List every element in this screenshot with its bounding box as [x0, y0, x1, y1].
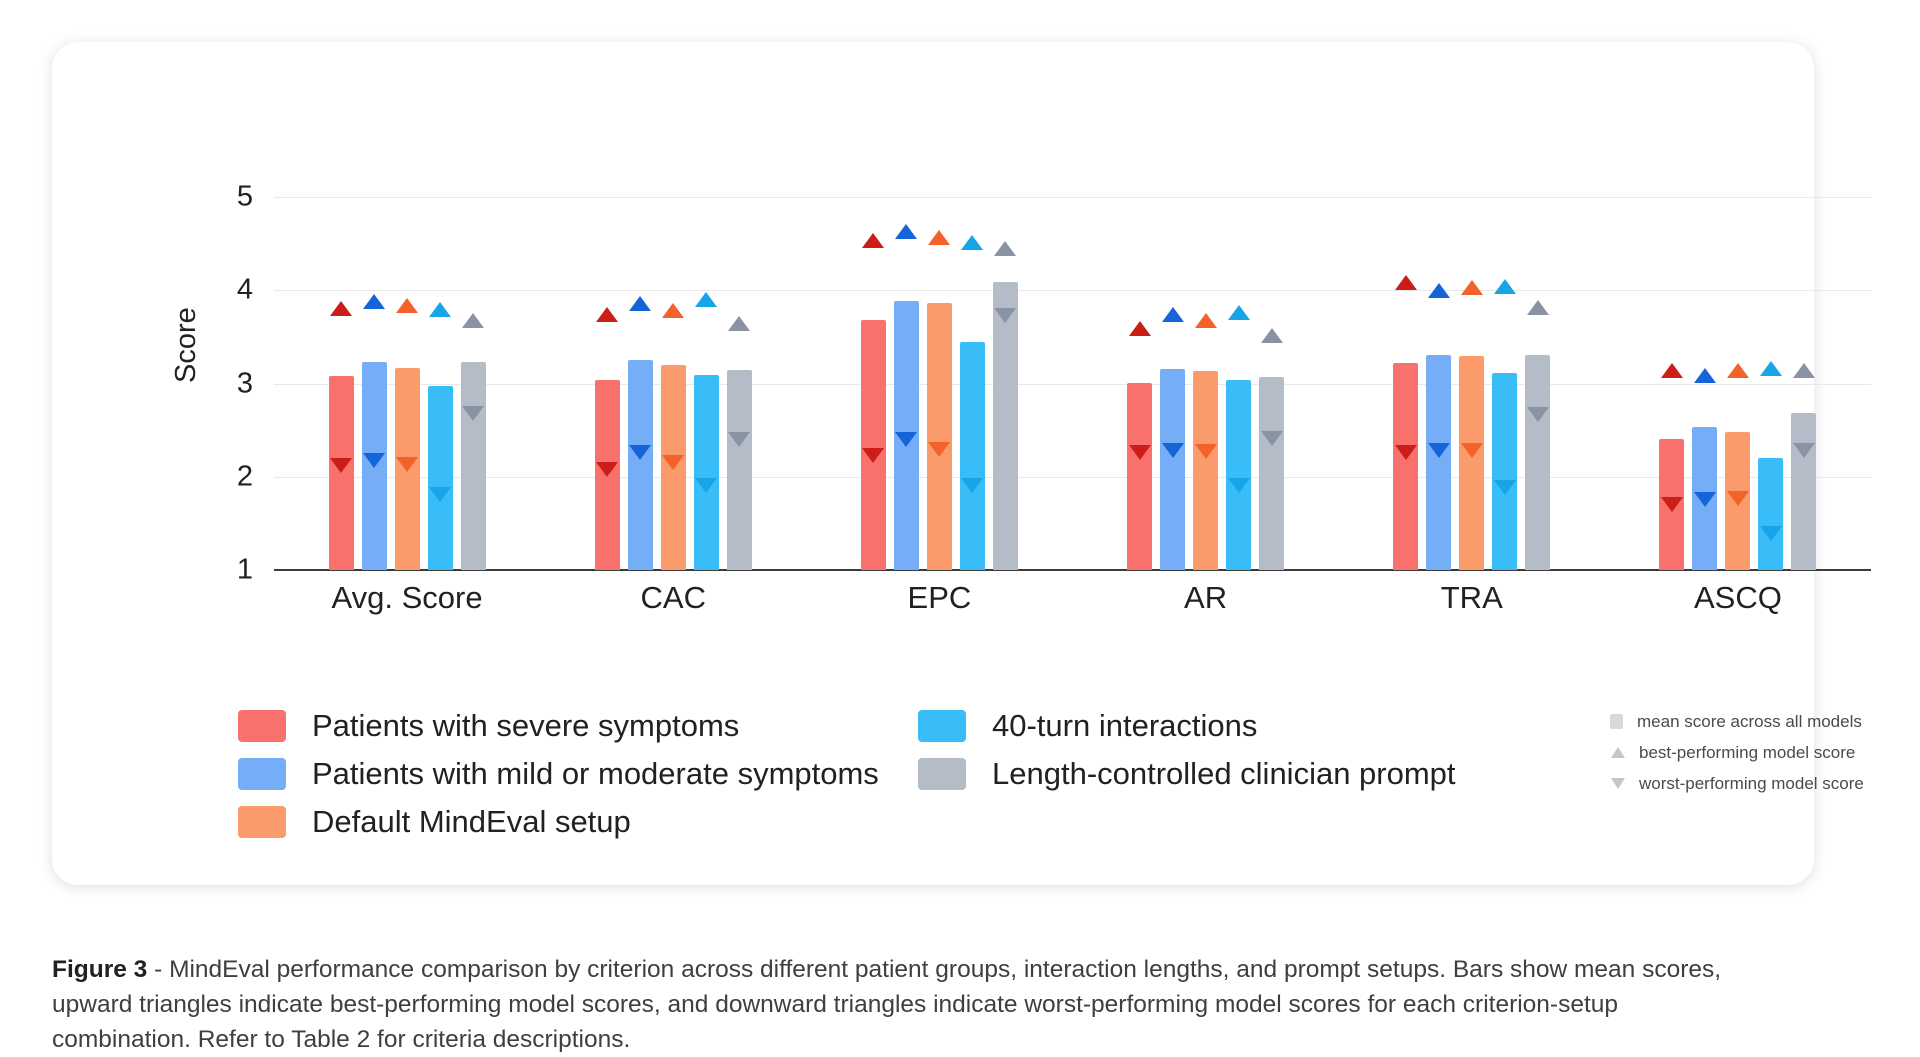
bar[interactable] [1426, 355, 1451, 570]
y-axis-tick: 3 [237, 367, 253, 400]
legend-swatch-severe [238, 710, 286, 742]
caption-text: MindEval performance comparison by crite… [52, 956, 1721, 1053]
legend-item[interactable]: 40-turn interactions [918, 702, 1456, 750]
y-axis-label: Score [170, 307, 203, 383]
triangle-down-icon [662, 455, 684, 470]
marker-legend-label: worst-performing model score [1639, 774, 1864, 794]
triangle-down-icon [928, 442, 950, 457]
caption-dash: - [147, 956, 169, 983]
triangle-down-icon [1261, 431, 1283, 446]
triangle-up-icon [1461, 280, 1483, 295]
triangle-up-icon [928, 230, 950, 245]
legend-label: 40-turn interactions [992, 708, 1257, 744]
triangle-up-icon [1727, 363, 1749, 378]
bar[interactable] [694, 375, 719, 570]
triangle-up-icon [994, 241, 1016, 256]
figure-caption: Figure 3 - MindEval performance comparis… [52, 952, 1732, 1057]
legend-column-left: Patients with severe symptoms Patients w… [238, 702, 879, 846]
x-axis-tick: ASCQ [1694, 580, 1782, 616]
triangle-down-icon [1527, 407, 1549, 422]
triangle-up-icon [1661, 363, 1683, 378]
triangle-up-icon [1228, 305, 1250, 320]
triangle-up-icon [396, 298, 418, 313]
x-axis-tick: AR [1184, 580, 1227, 616]
triangle-up-icon [429, 302, 451, 317]
x-axis-tick: Avg. Score [332, 580, 483, 616]
bar[interactable] [1492, 373, 1517, 570]
legend-item[interactable]: Length-controlled clinician prompt [918, 750, 1456, 798]
triangle-up-icon [1760, 361, 1782, 376]
bar[interactable] [1160, 369, 1185, 570]
triangle-up-icon [1793, 363, 1815, 378]
triangle-up-icon [695, 292, 717, 307]
marker-legend-label: mean score across all models [1637, 712, 1862, 732]
triangle-down-icon [1793, 443, 1815, 458]
y-axis-tick: 4 [237, 274, 253, 307]
triangle-down-icon [1162, 443, 1184, 458]
triangle-up-icon [728, 316, 750, 331]
bar[interactable] [1127, 383, 1152, 570]
marker-legend: mean score across all models best-perfor… [1610, 706, 1864, 799]
triangle-down-icon [1129, 445, 1151, 460]
bar[interactable] [329, 376, 354, 570]
triangle-up-icon [596, 307, 618, 322]
triangle-down-icon [728, 432, 750, 447]
square-icon [1610, 714, 1623, 729]
x-axis-tick: TRA [1441, 580, 1503, 616]
y-axis-tick: 2 [237, 460, 253, 493]
triangle-down-icon [895, 432, 917, 447]
legend-swatch-default-setup [238, 806, 286, 838]
triangle-up-icon [862, 233, 884, 248]
legend-item[interactable]: Default MindEval setup [238, 798, 879, 846]
bar[interactable] [861, 320, 886, 570]
triangle-up-icon [1428, 283, 1450, 298]
bar[interactable] [1226, 380, 1251, 570]
legend-label: Length-controlled clinician prompt [992, 756, 1456, 792]
marker-legend-item: worst-performing model score [1610, 768, 1864, 799]
legend-label: Patients with severe symptoms [312, 708, 739, 744]
triangle-up-icon [1494, 279, 1516, 294]
bar[interactable] [960, 342, 985, 570]
x-axis-tick: CAC [641, 580, 706, 616]
legend-label: Default MindEval setup [312, 804, 631, 840]
triangle-up-icon [1395, 275, 1417, 290]
bar[interactable] [1393, 363, 1418, 570]
bar[interactable] [461, 362, 486, 570]
bar-group [1605, 197, 1871, 570]
triangle-up-icon [662, 303, 684, 318]
bar[interactable] [428, 386, 453, 570]
bar[interactable] [927, 303, 952, 570]
triangle-down-icon [330, 458, 352, 473]
bar-group [540, 197, 806, 570]
bar[interactable] [727, 370, 752, 570]
triangle-up-icon [1195, 313, 1217, 328]
triangle-up-icon [1162, 307, 1184, 322]
triangle-up-icon [462, 313, 484, 328]
triangle-down-icon [363, 453, 385, 468]
triangle-down-icon [1760, 526, 1782, 541]
x-axis-tick: EPC [908, 580, 972, 616]
legend-label: Patients with mild or moderate symptoms [312, 756, 879, 792]
triangle-down-icon [994, 308, 1016, 323]
bar-group [274, 197, 540, 570]
chart-card: Score 12345Avg. ScoreCACEPCARTRAASCQ Pat… [52, 42, 1814, 885]
bar-group [1339, 197, 1605, 570]
y-axis-tick: 1 [237, 554, 253, 587]
legend-item[interactable]: Patients with severe symptoms [238, 702, 879, 750]
y-axis-tick: 5 [237, 181, 253, 214]
triangle-down-icon [429, 487, 451, 502]
triangle-down-icon [1661, 497, 1683, 512]
triangle-up-icon [330, 301, 352, 316]
triangle-down-icon [862, 448, 884, 463]
figure-page: Score 12345Avg. ScoreCACEPCARTRAASCQ Pat… [0, 0, 1920, 1045]
triangle-up-icon [629, 296, 651, 311]
triangle-up-icon [1611, 747, 1625, 758]
bar[interactable] [1259, 377, 1284, 570]
triangle-down-icon [1461, 443, 1483, 458]
marker-legend-item: best-performing model score [1610, 737, 1864, 768]
triangle-up-icon [1527, 300, 1549, 315]
triangle-down-icon [596, 462, 618, 477]
triangle-up-icon [1129, 321, 1151, 336]
triangle-up-icon [895, 224, 917, 239]
triangle-down-icon [1611, 778, 1625, 789]
triangle-down-icon [1694, 492, 1716, 507]
triangle-up-icon [1261, 328, 1283, 343]
legend-swatch-mild-moderate [238, 758, 286, 790]
bar[interactable] [1193, 371, 1218, 570]
legend-column-right: 40-turn interactions Length-controlled c… [918, 702, 1456, 798]
legend-swatch-length-controlled [918, 758, 966, 790]
triangle-down-icon [1195, 444, 1217, 459]
bar[interactable] [993, 282, 1018, 570]
triangle-down-icon [1395, 445, 1417, 460]
triangle-down-icon [1727, 491, 1749, 506]
triangle-down-icon [462, 406, 484, 421]
bar-group [1073, 197, 1339, 570]
triangle-down-icon [629, 445, 651, 460]
marker-legend-label: best-performing model score [1639, 743, 1855, 763]
triangle-up-icon [363, 294, 385, 309]
triangle-down-icon [695, 478, 717, 493]
triangle-down-icon [1428, 443, 1450, 458]
figure-number: Figure 3 [52, 956, 147, 983]
legend-swatch-40-turn [918, 710, 966, 742]
triangle-up-icon [961, 235, 983, 250]
triangle-down-icon [961, 478, 983, 493]
bar[interactable] [1525, 355, 1550, 570]
bar[interactable] [1459, 356, 1484, 570]
marker-legend-item: mean score across all models [1610, 706, 1864, 737]
bar-group [806, 197, 1072, 570]
triangle-down-icon [1494, 480, 1516, 495]
bar[interactable] [1758, 458, 1783, 570]
triangle-up-icon [1694, 368, 1716, 383]
plot-area: 12345Avg. ScoreCACEPCARTRAASCQ [274, 197, 1871, 570]
bar[interactable] [1791, 413, 1816, 570]
bar[interactable] [628, 360, 653, 570]
legend-item[interactable]: Patients with mild or moderate symptoms [238, 750, 879, 798]
triangle-down-icon [1228, 478, 1250, 493]
triangle-down-icon [396, 457, 418, 472]
